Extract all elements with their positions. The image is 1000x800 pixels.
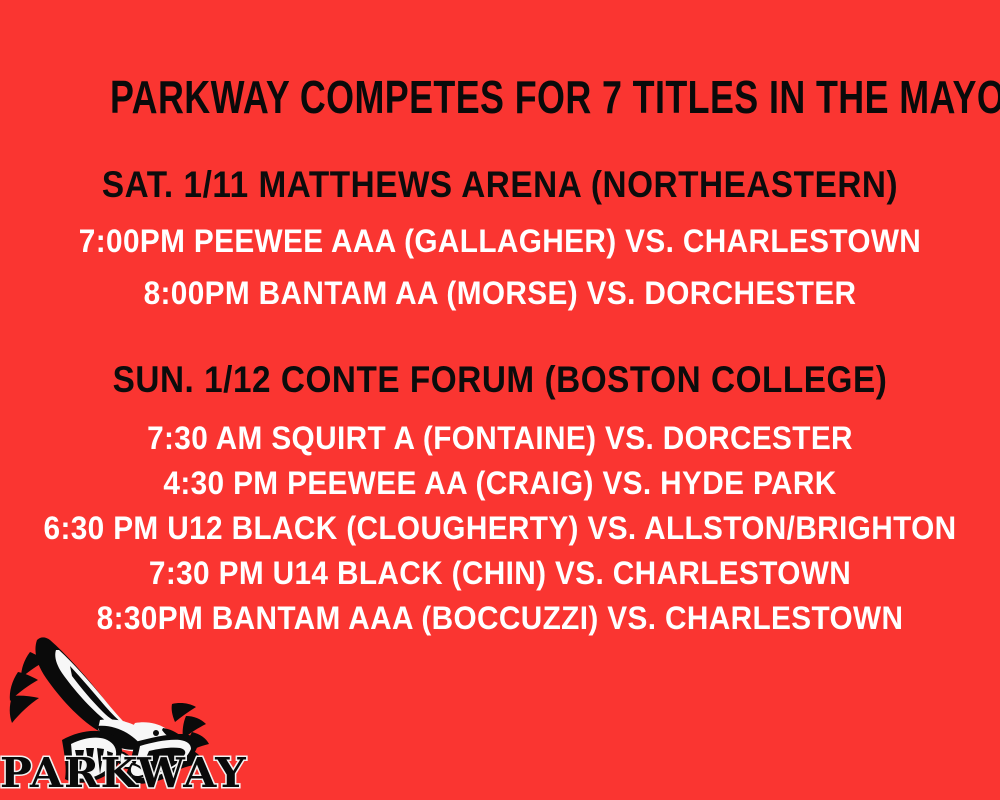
game-line: 6:30 PM U12 BLACK (CLOUGHERTY) VS. ALLST… [35, 506, 965, 551]
schedule-day-block: SUN. 1/12 CONTE FORUM (BOSTON COLLEGE) 7… [0, 358, 1000, 641]
game-line: 7:30 AM SQUIRT A (FONTAINE) VS. DORCESTE… [35, 416, 965, 461]
game-list: 7:00PM PEEWEE AAA (GALLAGHER) VS. CHARLE… [0, 215, 1000, 319]
game-line: 4:30 PM PEEWEE AA (CRAIG) VS. HYDE PARK [35, 461, 965, 506]
game-line: 7:00PM PEEWEE AAA (GALLAGHER) VS. CHARLE… [35, 215, 965, 267]
poster-canvas: PARKWAY COMPETES FOR 7 TITLES IN THE MAY… [0, 0, 1000, 800]
game-line: 8:00PM BANTAM AA (MORSE) VS. DORCHESTER [35, 267, 965, 319]
page-title: PARKWAY COMPETES FOR 7 TITLES IN THE MAY… [110, 70, 890, 124]
schedule-day-block: SAT. 1/11 MATTHEWS ARENA (NORTHEASTERN) … [0, 163, 1000, 319]
venue-heading: SUN. 1/12 CONTE FORUM (BOSTON COLLEGE) [50, 358, 950, 402]
game-line: 7:30 PM U14 BLACK (CHIN) VS. CHARLESTOWN [35, 551, 965, 596]
logo-wordmark: PARKWAY [0, 753, 214, 794]
game-list: 7:30 AM SQUIRT A (FONTAINE) VS. DORCESTE… [0, 416, 1000, 641]
venue-heading: SAT. 1/11 MATTHEWS ARENA (NORTHEASTERN) [50, 163, 950, 207]
parkway-logo: PARKWAY [4, 622, 210, 798]
